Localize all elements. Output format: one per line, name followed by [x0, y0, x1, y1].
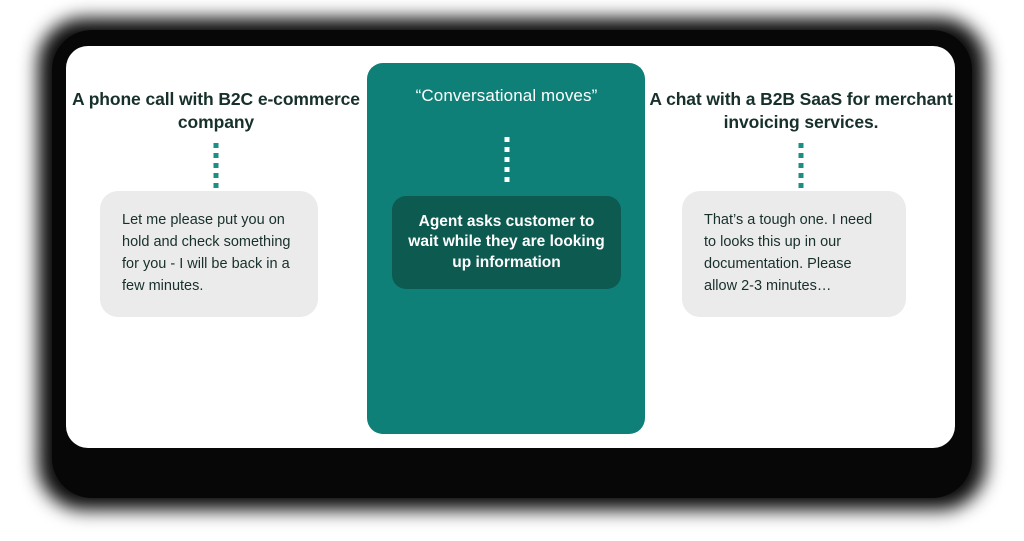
column-left: A phone call with B2C e-commerce company…	[66, 46, 366, 448]
connector-dot	[504, 167, 509, 172]
content-card: A phone call with B2C e-commerce company…	[66, 46, 955, 448]
column-center: “Conversational moves” Agent asks custom…	[367, 46, 646, 448]
connector-dot	[214, 173, 219, 178]
connector-dot	[504, 157, 509, 162]
connector-dot	[799, 173, 804, 178]
connector-dot	[799, 153, 804, 158]
left-dotted-connector-icon	[214, 143, 219, 188]
center-column-heading: “Conversational moves”	[367, 85, 646, 108]
connector-dot	[799, 143, 804, 148]
connector-dot	[214, 183, 219, 188]
connector-dot	[504, 147, 509, 152]
conversational-move-card: Agent asks customer to wait while they a…	[392, 196, 621, 289]
center-dotted-connector-icon	[504, 137, 509, 182]
slide-canvas: A phone call with B2C e-commerce company…	[0, 0, 1024, 541]
column-right: A chat with a B2B SaaS for merchant invo…	[647, 46, 955, 448]
connector-dot	[799, 183, 804, 188]
connector-dot	[214, 143, 219, 148]
connector-dot	[214, 163, 219, 168]
connector-dot	[214, 153, 219, 158]
connector-dot	[504, 177, 509, 182]
right-message-bubble: That’s a tough one. I need to looks this…	[682, 191, 906, 317]
connector-dot	[504, 137, 509, 142]
right-column-heading: A chat with a B2B SaaS for merchant invo…	[647, 88, 955, 135]
left-message-bubble: Let me please put you on hold and check …	[100, 191, 318, 317]
connector-dot	[799, 163, 804, 168]
left-column-heading: A phone call with B2C e-commerce company	[66, 88, 366, 135]
right-dotted-connector-icon	[799, 143, 804, 188]
